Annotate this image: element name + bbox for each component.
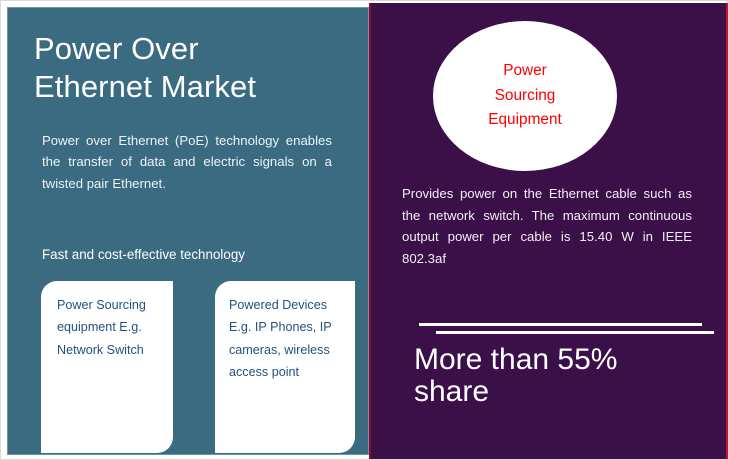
- tagline-text: Fast and cost-effective technology: [42, 246, 342, 263]
- description-paragraph: Provides power on the Ethernet cable suc…: [402, 183, 692, 269]
- oval-line-2: Sourcing: [495, 84, 556, 109]
- card-powered-devices-text: Powered Devices E.g. IP Phones, IP camer…: [229, 294, 348, 384]
- slide-canvas: Power Over Ethernet Market Power over Et…: [0, 0, 729, 460]
- market-share-headline: More than 55% share: [414, 344, 714, 408]
- left-panel: Power Over Ethernet Market Power over Et…: [7, 7, 369, 455]
- card-power-sourcing-equipment-text: Power Sourcing equipment E.g. Network Sw…: [57, 294, 166, 361]
- oval-line-1: Power: [503, 59, 547, 84]
- power-sourcing-equipment-oval: Power Sourcing Equipment: [433, 21, 617, 171]
- card-powered-devices: Powered Devices E.g. IP Phones, IP camer…: [215, 281, 355, 453]
- card-power-sourcing-equipment: Power Sourcing equipment E.g. Network Sw…: [41, 281, 173, 453]
- divider-rule-top: [419, 323, 702, 326]
- page-title: Power Over Ethernet Market: [34, 30, 354, 106]
- right-panel: Power Sourcing Equipment Provides power …: [371, 3, 728, 459]
- oval-line-3: Equipment: [488, 108, 562, 133]
- divider-rule-bottom: [436, 331, 714, 334]
- intro-paragraph: Power over Ethernet (PoE) technology ena…: [42, 130, 332, 194]
